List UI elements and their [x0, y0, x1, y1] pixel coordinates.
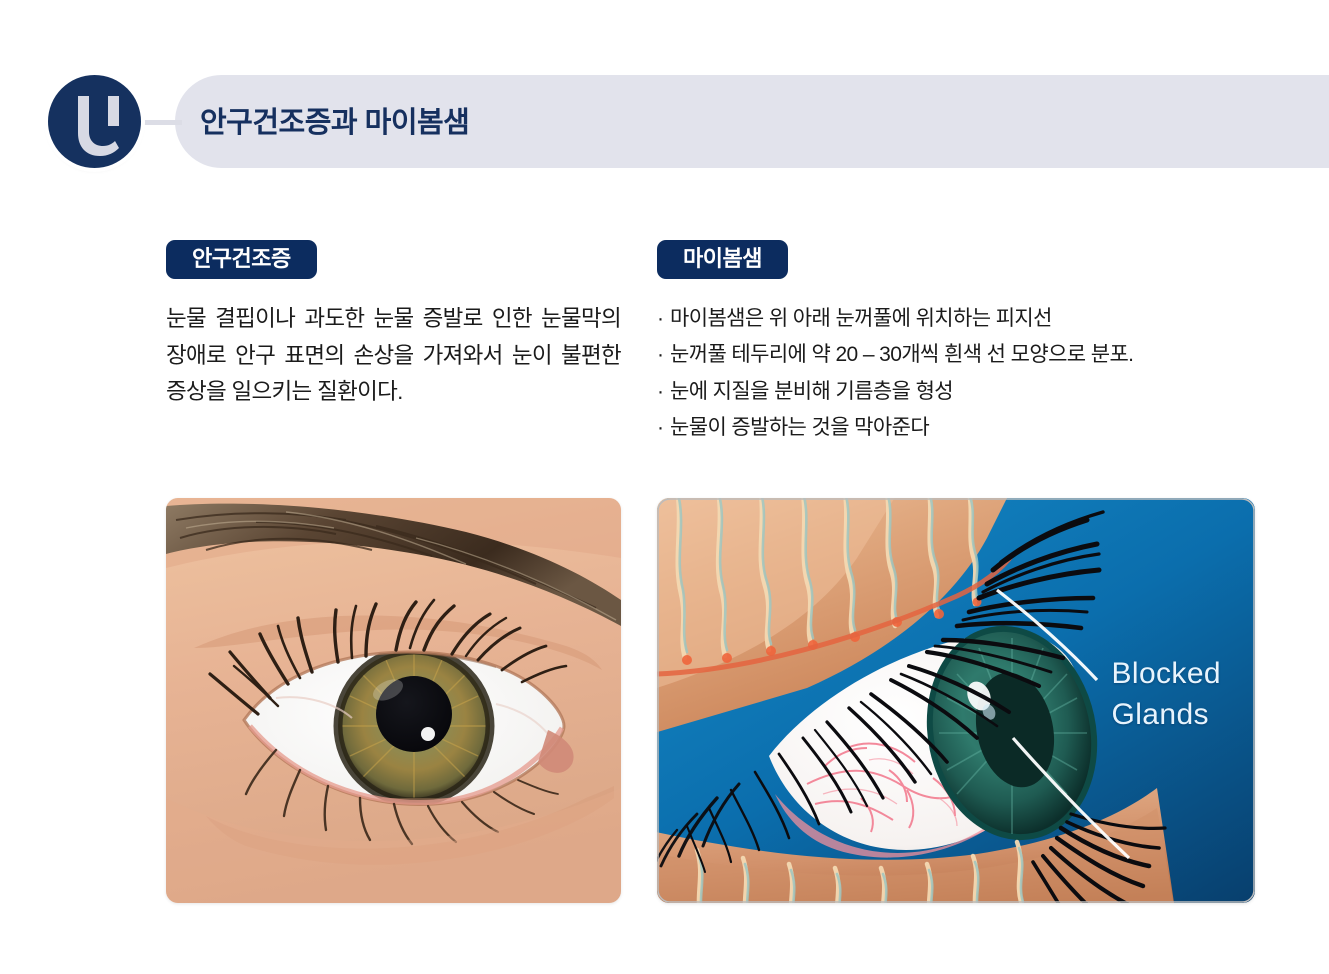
page-title-plain: 안구건조증과 — [200, 107, 365, 139]
section-meibomian: 마이봄샘 ·마이봄샘은 위 아래 눈꺼풀에 위치하는 피지선 ·눈꺼풀 테두리에… — [657, 240, 1257, 446]
human-eye-photo-graphic — [166, 498, 621, 903]
page-title-strong: 마이봄샘 — [365, 107, 470, 139]
dry-eye-paragraph: 눈물 결핍이나 과도한 눈물 증발로 인한 눈물막의 장애로 안구 표면의 손상… — [166, 301, 621, 410]
blocked-glands-label-line2: Glands — [1111, 694, 1221, 735]
section-badge-dry-eye: 안구건조증 — [166, 240, 317, 279]
bullet-marker-icon: · — [657, 337, 670, 373]
human-eye-photo — [166, 498, 621, 903]
bullet-marker-icon: · — [657, 374, 670, 410]
bullet-marker-icon: · — [657, 410, 670, 446]
list-item-label: 눈에 지질을 분비해 기름층을 형성 — [670, 380, 953, 403]
meibomian-bullet-list: ·마이봄샘은 위 아래 눈꺼풀에 위치하는 피지선 ·눈꺼풀 테두리에 약 20… — [657, 301, 1257, 445]
list-item-label: 눈꺼풀 테두리에 약 20 – 30개씩 흰색 선 모양으로 분포. — [670, 343, 1133, 366]
bullet-marker-icon: · — [657, 301, 670, 337]
list-item: ·눈물이 증발하는 것을 막아준다 — [657, 410, 1257, 446]
meibomian-gland-illustration: Blocked Glands — [657, 498, 1255, 903]
blocked-glands-label-line1: Blocked — [1111, 653, 1221, 694]
slide-page: 안구건조증과 마이봄샘 안구건조증 눈물 결핍이나 과도한 눈물 증발로 인한 … — [0, 0, 1329, 974]
section-dry-eye: 안구건조증 눈물 결핍이나 과도한 눈물 증발로 인한 눈물막의 장애로 안구 … — [166, 240, 621, 411]
list-item: ·눈에 지질을 분비해 기름층을 형성 — [657, 374, 1257, 410]
list-item-label: 마이봄샘은 위 아래 눈꺼풀에 위치하는 피지선 — [670, 307, 1052, 330]
list-item-label: 눈물이 증발하는 것을 막아준다 — [670, 416, 929, 439]
section-badge-meibomian: 마이봄샘 — [657, 240, 788, 279]
list-item: ·마이봄샘은 위 아래 눈꺼풀에 위치하는 피지선 — [657, 301, 1257, 337]
page-title: 안구건조증과 마이봄샘 — [200, 99, 469, 147]
logo-badge — [48, 75, 141, 168]
list-item: ·눈꺼풀 테두리에 약 20 – 30개씩 흰색 선 모양으로 분포. — [657, 337, 1257, 373]
blocked-glands-label: Blocked Glands — [1111, 653, 1221, 736]
